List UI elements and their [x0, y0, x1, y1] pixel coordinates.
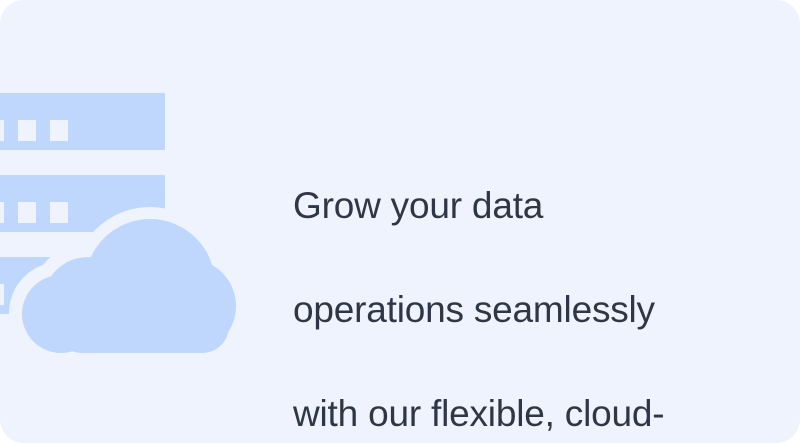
cloud-lobe-large: [85, 219, 215, 349]
server-rack-stack: [0, 93, 165, 314]
rack-indicator-light: [0, 202, 4, 223]
cloud-shape: [22, 219, 236, 353]
rack-body-middle: [0, 175, 165, 232]
cloud-lobe-mid: [43, 257, 133, 347]
page-title: Grow your data operations seamlessly wit…: [293, 128, 723, 443]
rack-indicator-light: [0, 284, 4, 305]
server-rack-and-cloud-illustration: [0, 0, 260, 443]
headline-line-1: Grow your data: [293, 180, 723, 232]
server-rack-unit-top: [0, 93, 165, 150]
server-rack-unit-middle: [0, 175, 165, 232]
headline-line-3: with our flexible, cloud-: [293, 388, 723, 440]
server-rack-unit-bottom: [0, 257, 165, 314]
promo-card: Grow your data operations seamlessly wit…: [0, 0, 800, 443]
rack-body-top: [0, 93, 165, 150]
rack-indicator-light: [50, 202, 68, 223]
rack-indicator-light: [0, 120, 4, 141]
rack-indicator-light: [50, 284, 68, 305]
rack-indicator-light: [18, 202, 36, 223]
rack-indicator-light: [18, 284, 36, 305]
headline-block: Grow your data operations seamlessly wit…: [293, 128, 723, 443]
headline-line-2: operations seamlessly: [293, 284, 723, 336]
cloud-lobe-right: [142, 259, 236, 353]
illustration-svg: [0, 0, 260, 443]
cloud-base: [55, 295, 229, 353]
rack-indicator-light: [50, 120, 68, 141]
rack-indicator-light: [18, 120, 36, 141]
rack-body-bottom: [0, 257, 165, 314]
cloud-lobe-small: [22, 275, 100, 353]
